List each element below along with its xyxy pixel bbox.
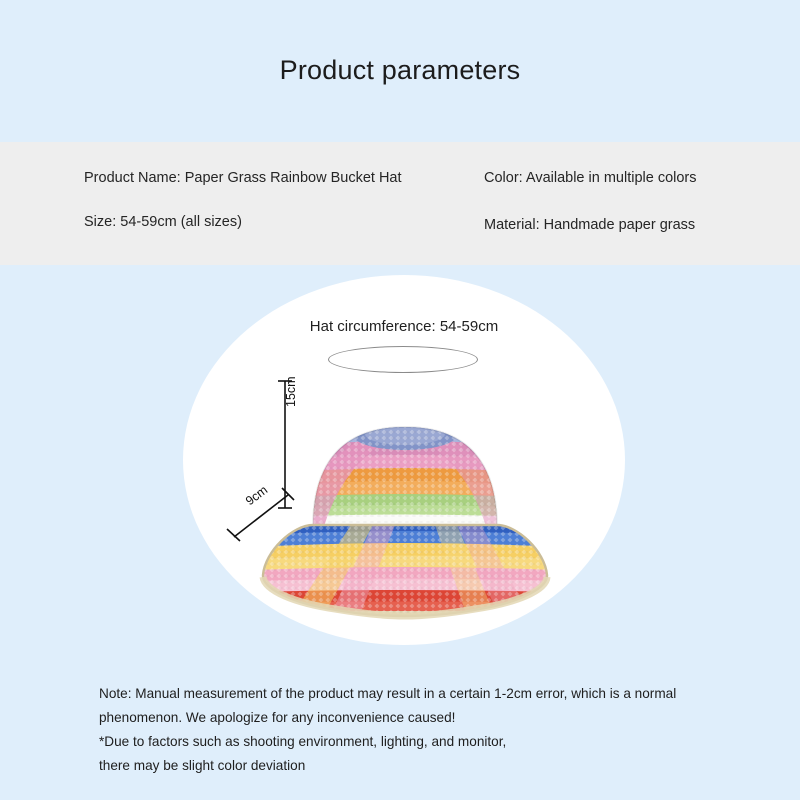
note-block: Note: Manual measurement of the product …: [99, 682, 739, 778]
spec-color: Color: Available in multiple colors: [484, 170, 697, 186]
note-line: phenomenon. We apologize for any inconve…: [99, 706, 739, 730]
head-opening-ellipse-icon: [328, 346, 478, 373]
illustration-area: Hat circumference: 54-59cm: [0, 265, 800, 665]
spec-size: Size: 54-59cm (all sizes): [84, 214, 242, 230]
page-title: Product parameters: [0, 55, 800, 86]
spec-panel: [0, 142, 800, 265]
hat-circumference-label: Hat circumference: 54-59cm: [183, 318, 625, 335]
crown-height-label: 15cm: [284, 376, 298, 407]
product-parameter-page: Product parameters Product Name: Paper G…: [0, 0, 800, 800]
note-line: Note: Manual measurement of the product …: [99, 682, 739, 706]
header-band: Product parameters: [0, 0, 800, 142]
spec-product-name: Product Name: Paper Grass Rainbow Bucket…: [84, 170, 402, 186]
spec-material: Material: Handmade paper grass: [484, 217, 695, 233]
note-line: there may be slight color deviation: [99, 754, 739, 778]
note-line: *Due to factors such as shooting environ…: [99, 730, 739, 754]
